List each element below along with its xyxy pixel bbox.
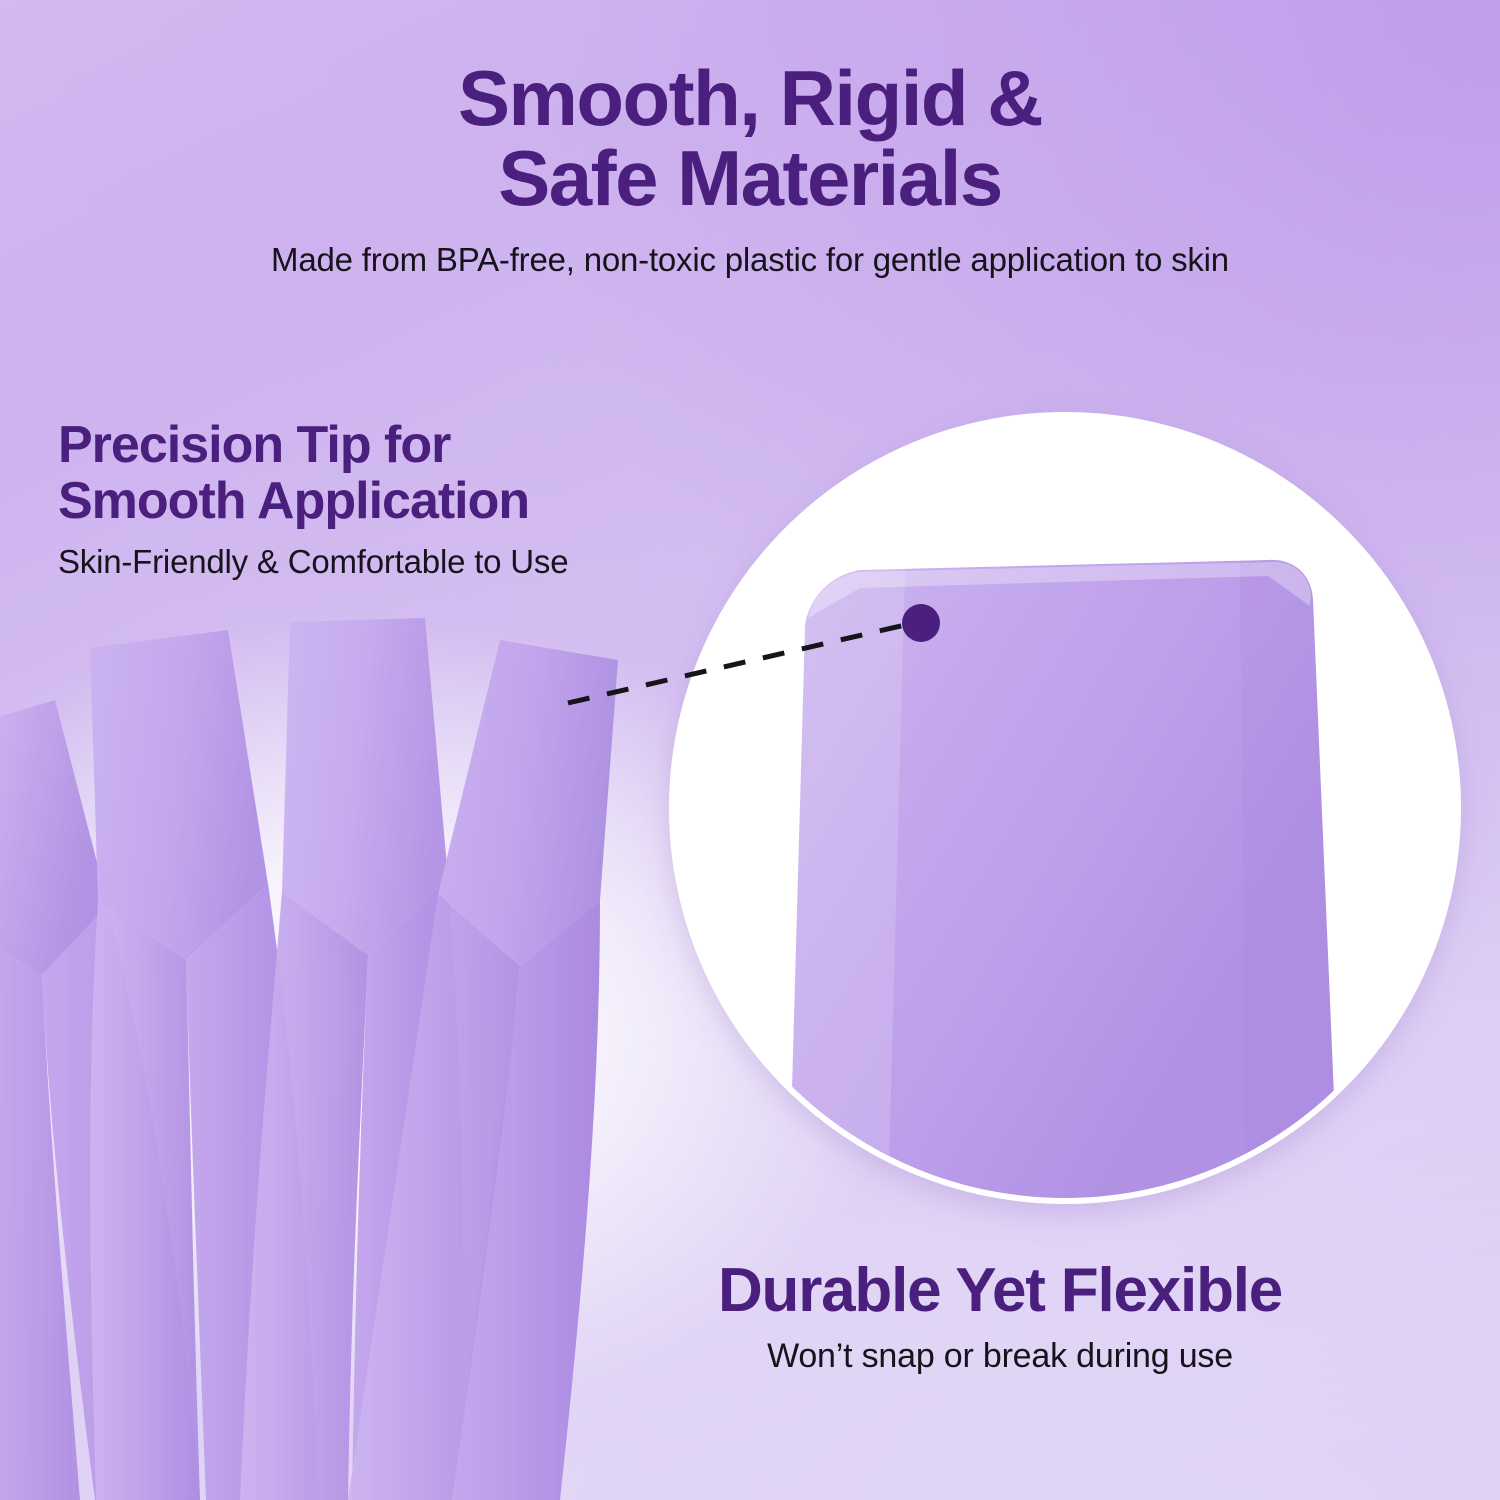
feature-durable-flexible-title: Durable Yet Flexible [500,1258,1500,1323]
page-subtitle: Made from BPA-free, non-toxic plastic fo… [0,241,1500,279]
feature-precision-tip-subtitle: Skin-Friendly & Comfortable to Use [58,543,758,581]
feature-precision-tip-title: Precision Tip for Smooth Application [58,418,758,529]
feature-durable-flexible: Durable Yet Flexible Won’t snap or break… [500,1258,1500,1376]
feature-precision-tip: Precision Tip for Smooth Application Ski… [58,418,758,581]
feature-durable-flexible-subtitle: Won’t snap or break during use [500,1337,1500,1376]
infographic-canvas: Smooth, Rigid & Safe Materials Made from… [0,0,1500,1500]
headline-block: Smooth, Rigid & Safe Materials Made from… [0,58,1500,279]
page-title: Smooth, Rigid & Safe Materials [0,58,1500,219]
